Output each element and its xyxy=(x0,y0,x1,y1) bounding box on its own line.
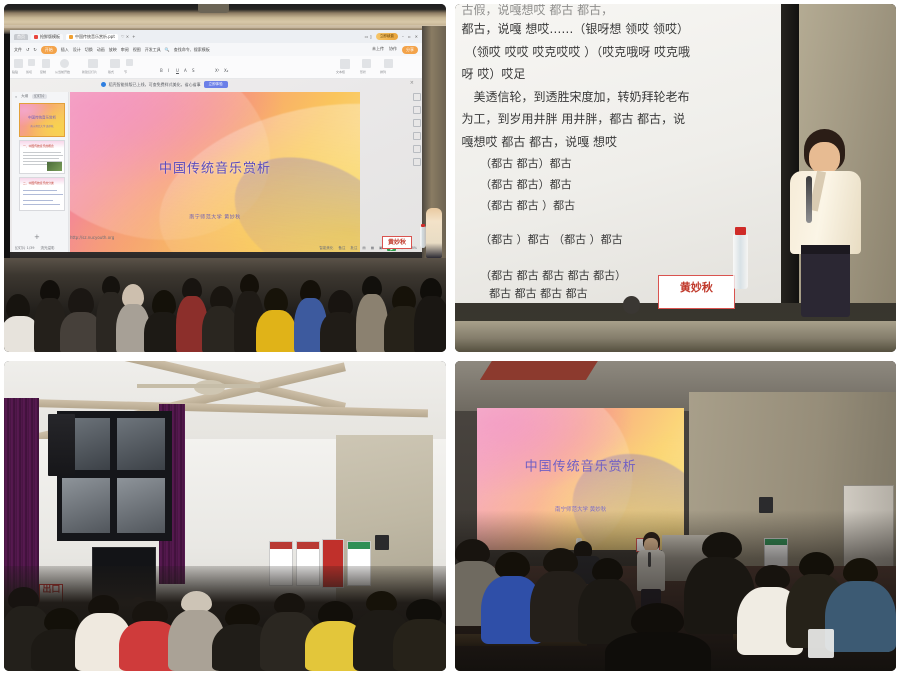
audience-body xyxy=(320,312,360,352)
wps-ribbon-tabs: 文件 ↺ ↻ 开始 插入 设计 切换 动画 放映 审阅 视图 开发工具 🔍 查找… xyxy=(10,43,422,56)
add-slide-button[interactable]: + xyxy=(34,233,40,241)
paste-icon[interactable] xyxy=(14,59,23,68)
thumb-subtitle-1: 南宁师范大学 黄妙秋 xyxy=(30,124,53,128)
ceiling-fan-blade xyxy=(137,384,261,388)
ribbon-right-actions: 未上传 协作 分享 xyxy=(372,46,418,54)
ribbon-tab-slideshow[interactable]: 放映 xyxy=(109,47,117,53)
slide-subtitle: 南宁师范大学 黄妙秋 xyxy=(189,213,241,220)
italic-button[interactable]: I xyxy=(168,68,169,73)
thumb-title-1: 中国传统音乐赏析 xyxy=(28,116,56,121)
ribbon-tab-transition[interactable]: 切换 xyxy=(85,47,93,53)
cloud-icon[interactable] xyxy=(413,145,421,153)
tab-slides[interactable]: 幻灯片 xyxy=(32,94,47,99)
new-slide-label: 新建幻灯片 xyxy=(82,70,97,74)
lyrics-line-11: （都古 都古 都古 都古 都古） xyxy=(475,267,627,283)
slide-thumb-1[interactable]: 1 中国传统音乐赏析 南宁师范大学 黄妙秋 xyxy=(19,103,65,137)
window-pane xyxy=(62,478,110,533)
arrange-icon[interactable] xyxy=(384,59,393,68)
slide-title: 中国传统音乐赏析 xyxy=(159,158,271,177)
slide-counter: 幻灯片 1/39 xyxy=(15,246,34,251)
underline-button[interactable]: U xyxy=(176,68,179,73)
window-controls: ▭ ▯ 立即续费 – ▫ ✕ xyxy=(365,33,418,40)
text-box-label: 文本框 xyxy=(336,70,345,74)
panel-toggle-icon[interactable] xyxy=(413,93,421,101)
undo-icon[interactable]: ↺ xyxy=(26,47,29,52)
presenter-face xyxy=(809,142,841,175)
photo-top-left: 首页 抢鲜版模板 中国传统音乐赏析.ppt ♡ × + ▭ ▯ 立即续费 – xyxy=(4,4,446,352)
comment-button[interactable]: 批注 xyxy=(350,246,357,251)
cut-icon[interactable] xyxy=(28,59,35,66)
shapes-icon[interactable] xyxy=(362,59,371,68)
wps-tab-presentation[interactable]: 中国传统音乐赏析.ppt xyxy=(66,34,118,40)
promo-try-button[interactable]: 立即体验 xyxy=(204,81,228,88)
thumb-text-line xyxy=(23,190,57,191)
thumb-image-2 xyxy=(47,162,62,171)
slide-canvas[interactable]: 中国传统音乐赏析 南宁师范大学 黄妙秋 xyxy=(70,92,360,252)
slide-thumb-2[interactable]: 2 一、中国传统音乐的概念 xyxy=(19,140,65,174)
lyrics-line-6: 嘎想哎 都古 都古，说嘎 想哎 xyxy=(462,133,617,150)
new-slide-icon[interactable] xyxy=(88,59,98,68)
promo-notice: 稻壳智能排版已上线，可查免费样式美化，省心省事 立即体验 xyxy=(101,80,332,89)
doc-icon xyxy=(34,35,38,39)
name-placard: 黄妙秋 xyxy=(382,236,412,249)
bold-button[interactable]: B xyxy=(160,68,163,73)
wps-home-tab[interactable]: 首页 xyxy=(14,34,28,40)
superscript-button[interactable]: X² xyxy=(215,68,219,73)
audience-head-front xyxy=(631,603,684,635)
share-button[interactable]: 分享 xyxy=(402,46,418,54)
slide-thumb-3[interactable]: 3 二、中国传统音乐的分类 xyxy=(19,177,65,211)
format-painter-icon[interactable] xyxy=(42,59,50,68)
notice-header xyxy=(270,542,292,549)
view-mode-label[interactable]: 流光溢彩 xyxy=(40,246,54,251)
paste-label: 粘贴 xyxy=(12,70,18,74)
window-pane xyxy=(117,418,165,470)
tab-outline[interactable]: 大纲 xyxy=(21,94,28,99)
photo-bottom-right: 中国传统音乐赏析 南宁师范大学 黄妙秋 黄妙秋 xyxy=(455,361,896,671)
photo-collage: 首页 抢鲜版模板 中国传统音乐赏析.ppt ♡ × + ▭ ▯ 立即续费 – xyxy=(0,0,900,675)
ribbon-tab-view[interactable]: 视图 xyxy=(133,47,141,53)
desk-object xyxy=(623,296,641,313)
tab-close-icon[interactable]: ♡ × xyxy=(121,34,129,39)
redo-icon[interactable]: ↻ xyxy=(33,47,36,52)
text-box-icon[interactable] xyxy=(340,59,350,69)
collaborate-button[interactable]: 协作 xyxy=(389,46,397,54)
audience-body xyxy=(393,619,446,671)
arrange-label: 排列 xyxy=(380,70,386,74)
subscript-button[interactable]: X₂ xyxy=(224,68,228,73)
layout-label: 版式 xyxy=(108,70,114,74)
water-bottle xyxy=(733,234,748,290)
microphone xyxy=(806,176,812,223)
lyrics-line-1: 都古，说嘎 想哎……（银呀想 领哎 领哎） xyxy=(462,20,689,37)
window-pane xyxy=(117,478,165,533)
promo-close-icon[interactable]: × xyxy=(410,80,414,86)
lectern-base xyxy=(455,321,896,352)
red-ceiling-beam xyxy=(480,361,597,380)
notice-header xyxy=(348,542,370,549)
notes-button[interactable]: 备注 xyxy=(338,246,345,251)
wall-camera xyxy=(375,535,388,551)
wps-title-bar: 首页 抢鲜版模板 中国传统音乐赏析.ppt ♡ × + ▭ ▯ 立即续费 – xyxy=(10,30,422,43)
lyrics-line-12: 都古 都古 都古 都古 xyxy=(475,285,588,301)
play-label: 从当前开始 xyxy=(55,70,70,74)
lyrics-line-0: 古假，说嘎想哎 都古 都古， xyxy=(462,4,614,18)
beautify-button[interactable]: 智能美化 xyxy=(319,246,333,251)
thumb-text-line xyxy=(23,152,61,153)
ribbon-tab-animation[interactable]: 动画 xyxy=(97,47,105,53)
text-style-button[interactable]: A xyxy=(184,68,187,73)
ribbon-tab-file[interactable]: 文件 xyxy=(14,47,22,53)
status-url: http://sz.nucyouth.org xyxy=(70,235,114,240)
copy-style-icon[interactable] xyxy=(413,119,421,127)
lyrics-line-2: （领哎 哎哎 哎克哎哎 ）（哎克哦呀 哎克哦 xyxy=(465,43,690,60)
ppt-icon xyxy=(69,35,73,39)
slide-thumbnail-pane: « 大纲 幻灯片 1 中国传统音乐赏析 南宁师范大学 黄妙秋 2 一、中国传统音… xyxy=(12,92,69,252)
collapse-icon[interactable]: « xyxy=(15,95,17,99)
wps-tab-template[interactable]: 抢鲜版模板 xyxy=(31,34,63,40)
collage-cell-top-right: 古假，说嘎想哎 都古 都古， 都古，说嘎 想哎……（银呀想 领哎 领哎） （领哎… xyxy=(450,0,900,356)
info-icon xyxy=(101,82,106,87)
thumb-text-line xyxy=(23,194,63,195)
ribbon-tab-devtools[interactable]: 开发工具 xyxy=(145,47,161,53)
vip-renew-button[interactable]: 立即续费 xyxy=(376,33,398,40)
new-tab-button[interactable]: + xyxy=(132,34,135,39)
projector-mount xyxy=(198,4,229,13)
settings-gear-icon[interactable] xyxy=(413,106,421,114)
bottle-cap xyxy=(421,224,425,227)
lyrics-line-5: 为工，到岁用井胖 用井胖，都古 都古，说 xyxy=(462,110,686,127)
lyrics-line-4: 美透信轮，到透胜宋度加，转奶拜轮老布 xyxy=(462,88,690,105)
audience-head xyxy=(702,532,742,559)
crop-icon[interactable] xyxy=(413,158,421,166)
ribbon-tab-review[interactable]: 审阅 xyxy=(121,47,129,53)
thumb-title-2: 一、中国传统音乐的概念 xyxy=(23,144,54,148)
presenter xyxy=(781,133,869,314)
minimize-icon[interactable]: – xyxy=(402,34,404,39)
slide-sorter-icon[interactable]: ▦ xyxy=(371,246,374,250)
photo-bottom-left: 出口 禁止通行 禁止通行 xyxy=(4,361,446,671)
name-placard: 黄妙秋 xyxy=(658,275,735,308)
projection-screen: 首页 抢鲜版模板 中国传统音乐赏析.ppt ♡ × + ▭ ▯ 立即续费 – xyxy=(10,30,422,260)
lyrics-line-8: （都古 都古）都古 xyxy=(475,176,572,192)
audience-body xyxy=(825,581,896,652)
section-label: 节 xyxy=(124,70,127,74)
copy-label: 复制 xyxy=(40,70,46,74)
notice-header xyxy=(297,542,319,549)
collage-cell-bottom-left: 出口 禁止通行 禁止通行 xyxy=(0,356,450,675)
search-input[interactable]: 查找命令、搜索模板 xyxy=(174,47,210,53)
slide-title: 中国传统音乐赏析 xyxy=(525,455,637,474)
reading-view-icon[interactable]: ▤ xyxy=(362,246,365,250)
strike-button[interactable]: S xyxy=(192,68,195,73)
presenter-figure xyxy=(426,208,442,258)
thumb-text-line xyxy=(23,204,60,205)
cut-label: 剪切 xyxy=(26,70,32,74)
lyrics-line-9: （都古 都古 ）都古 xyxy=(475,197,576,213)
thumb-text-line xyxy=(23,200,53,201)
audience-body-front xyxy=(605,632,711,671)
thumb-text-line xyxy=(23,158,59,159)
ribbon-tab-home[interactable]: 开始 xyxy=(41,46,57,54)
photo-top-right: 古假，说嘎想哎 都古 都古， 都古，说嘎 想哎……（银呀想 领哎 领哎） （领哎… xyxy=(455,4,896,352)
restore-icon[interactable]: ▭ ▯ xyxy=(365,34,372,39)
play-from-current-icon[interactable] xyxy=(60,59,69,68)
paper-cup xyxy=(808,629,834,658)
maximize-icon[interactable]: ▫ xyxy=(408,34,411,39)
wall-speaker xyxy=(48,414,75,476)
lyrics-line-10: （都古 ）都古 （都古 ）都古 xyxy=(475,231,623,247)
audience-body-yellow xyxy=(256,310,296,352)
search-icon[interactable]: 🔍 xyxy=(165,47,170,52)
presenter-blouse xyxy=(790,171,861,254)
lyrics-line-7: （都古 都古）都古 xyxy=(475,155,572,171)
ribbon-tab-insert[interactable]: 插入 xyxy=(61,47,69,53)
thumb-title-3: 二、中国传统音乐的分类 xyxy=(23,181,54,185)
upload-status[interactable]: 未上传 xyxy=(372,46,384,54)
close-icon[interactable]: ✕ xyxy=(415,34,418,39)
collage-cell-top-left: 首页 抢鲜版模板 中国传统音乐赏析.ppt ♡ × + ▭ ▯ 立即续费 – xyxy=(0,0,450,356)
presenter-belt xyxy=(801,245,850,254)
promo-text: 稻壳智能排版已上线，可查免费样式美化，省心省事 xyxy=(109,82,201,88)
wps-toolbar: 粘贴 剪切 复制 从当前开始 新建幻灯片 版式 节 B I U A xyxy=(10,56,422,79)
section-icon[interactable] xyxy=(126,59,133,66)
layout-icon[interactable] xyxy=(110,59,120,68)
shapes-label: 形状 xyxy=(360,70,366,74)
image-icon[interactable] xyxy=(413,132,421,140)
ribbon-tab-design[interactable]: 设计 xyxy=(73,47,81,53)
collage-cell-bottom-right: 中国传统音乐赏析 南宁师范大学 黄妙秋 黄妙秋 xyxy=(450,356,900,675)
right-sidebar-dock xyxy=(412,90,421,193)
audience-area xyxy=(4,258,446,352)
audience-area xyxy=(4,566,446,671)
audience-body xyxy=(414,296,446,352)
bottle-cap xyxy=(735,227,746,236)
audience-body xyxy=(202,306,238,352)
thumb-text-line xyxy=(23,155,63,156)
lyrics-line-3: 呀 哎）哎足 xyxy=(462,65,526,82)
outline-tabs: « 大纲 幻灯片 xyxy=(12,92,68,101)
audience-area xyxy=(455,510,896,671)
